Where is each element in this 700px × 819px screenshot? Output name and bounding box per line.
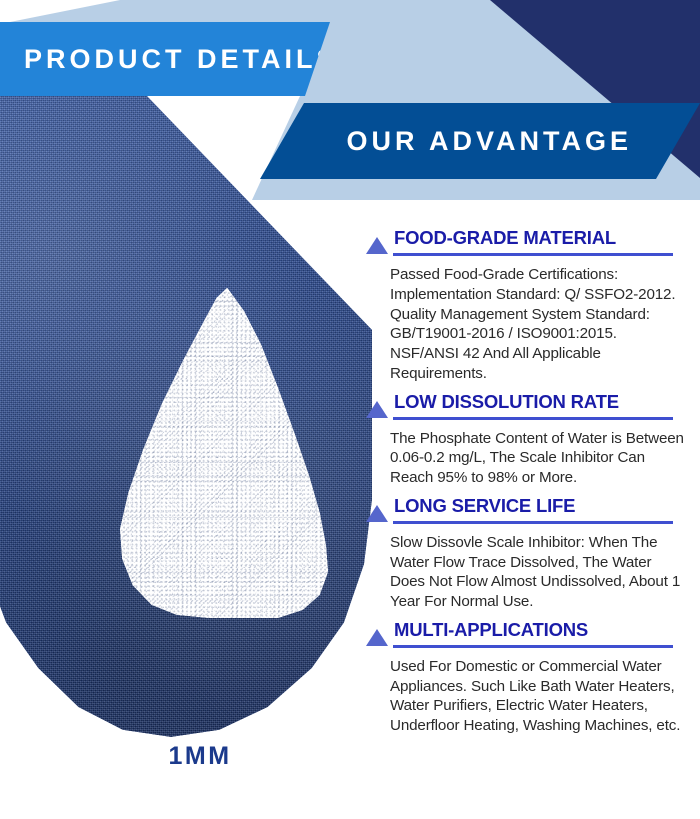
feature-description: The Phosphate Content of Water is Betwee… <box>390 429 686 488</box>
product-details-banner-shape: PRODUCT DETAILS <box>0 22 330 96</box>
feature-description: Used For Domestic or Commercial Water Ap… <box>390 657 686 736</box>
feature-heading: LONG SERVICE LIFE <box>366 496 690 526</box>
our-advantage-banner-shape: OUR ADVANTAGE <box>260 103 700 179</box>
feature-item-low-dissolution-rate: LOW DISSOLUTION RATE The Phosphate Conte… <box>366 392 690 488</box>
feature-item-long-service-life: LONG SERVICE LIFE Slow Dissovle Scale In… <box>366 496 690 612</box>
advantage-feature-list: FOOD-GRADE MATERIAL Passed Food-Grade Ce… <box>366 228 690 744</box>
feature-underline <box>393 521 673 524</box>
feature-title: MULTI-APPLICATIONS <box>394 619 588 641</box>
feature-underline <box>393 645 673 648</box>
feature-title: LOW DISSOLUTION RATE <box>394 391 619 413</box>
feature-underline <box>393 253 673 256</box>
our-advantage-title: OUR ADVANTAGE <box>347 126 633 157</box>
feature-underline <box>393 417 673 420</box>
feature-heading: MULTI-APPLICATIONS <box>366 620 690 650</box>
feature-title: LONG SERVICE LIFE <box>394 495 575 517</box>
triangle-up-icon <box>366 401 388 418</box>
product-details-title: PRODUCT DETAILS <box>24 44 339 75</box>
size-caption: 1MM <box>100 742 300 771</box>
feature-item-multi-applications: MULTI-APPLICATIONS Used For Domestic or … <box>366 620 690 736</box>
feature-description: Passed Food-Grade Certifications: Implem… <box>390 265 686 384</box>
feature-title: FOOD-GRADE MATERIAL <box>394 227 616 249</box>
feature-heading: FOOD-GRADE MATERIAL <box>366 228 690 258</box>
feature-item-food-grade-material: FOOD-GRADE MATERIAL Passed Food-Grade Ce… <box>366 228 690 384</box>
triangle-up-icon <box>366 237 388 254</box>
feature-description: Slow Dissovle Scale Inhibitor: When The … <box>390 533 686 612</box>
feature-heading: LOW DISSOLUTION RATE <box>366 392 690 422</box>
triangle-up-icon <box>366 629 388 646</box>
triangle-up-icon <box>366 505 388 522</box>
product-details-banner: 1MM PRODUCT DETAILS OUR ADVANTAGE FOOD-G… <box>0 0 700 819</box>
